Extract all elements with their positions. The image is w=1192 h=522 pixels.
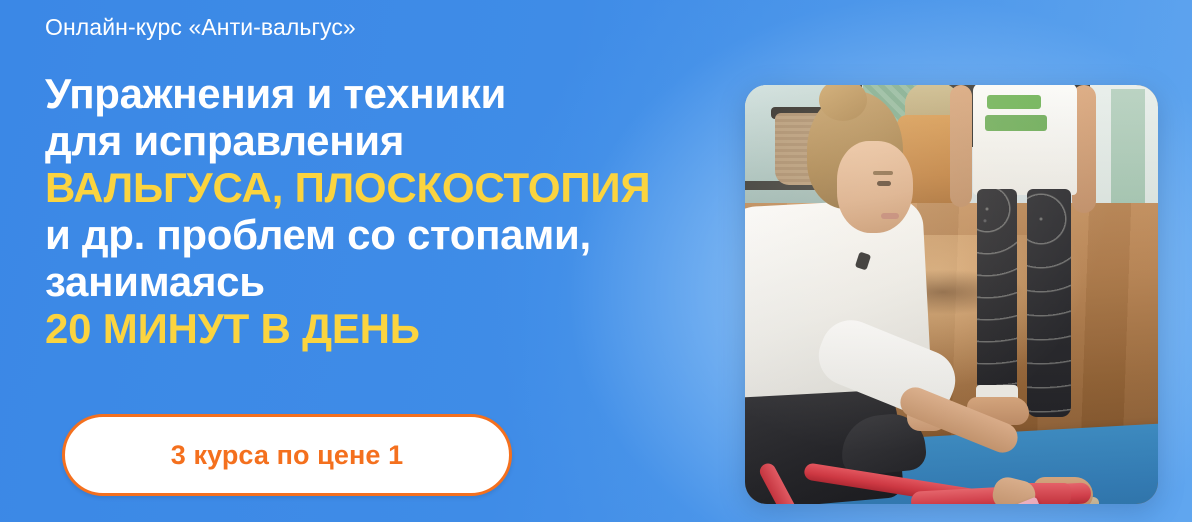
three-courses-price-of-one-button[interactable]: 3 курса по цене 1 — [62, 414, 512, 496]
banner-text-column: Онлайн-курс «Анти-вальгус» Упражнения и … — [45, 0, 745, 522]
photo-instructor-lips — [881, 213, 899, 219]
headline-line-1: Упражнения и техники — [45, 70, 745, 117]
photo-child-right-legging — [1027, 189, 1071, 417]
photo-scene — [745, 85, 1158, 504]
headline-line-6-accent: 20 МИНУТ В ДЕНЬ — [45, 305, 745, 352]
photo-child-left-legging — [977, 189, 1017, 401]
photo-child-tshirt-print — [983, 89, 1055, 143]
photo-instructor-eyebrow — [873, 171, 893, 175]
headline-line-4: и др. проблем со стопами, — [45, 211, 745, 258]
photo-instructor-face — [837, 141, 913, 233]
photo-instructor-eye — [877, 181, 891, 186]
promo-photo — [745, 85, 1158, 504]
cta-container: 3 курса по цене 1 — [62, 414, 512, 496]
headline-line-3-accent: ВАЛЬГУСА, ПЛОСКОСТОПИЯ — [45, 164, 745, 211]
photo-child-left-arm — [950, 85, 972, 207]
page-title: Упражнения и техники для исправления ВАЛ… — [45, 70, 745, 352]
promo-banner: Онлайн-курс «Анти-вальгус» Упражнения и … — [0, 0, 1192, 522]
course-eyebrow-label: Онлайн-курс «Анти-вальгус» — [45, 14, 356, 41]
headline-line-5: занимаясь — [45, 258, 745, 305]
headline-line-2: для исправления — [45, 117, 745, 164]
